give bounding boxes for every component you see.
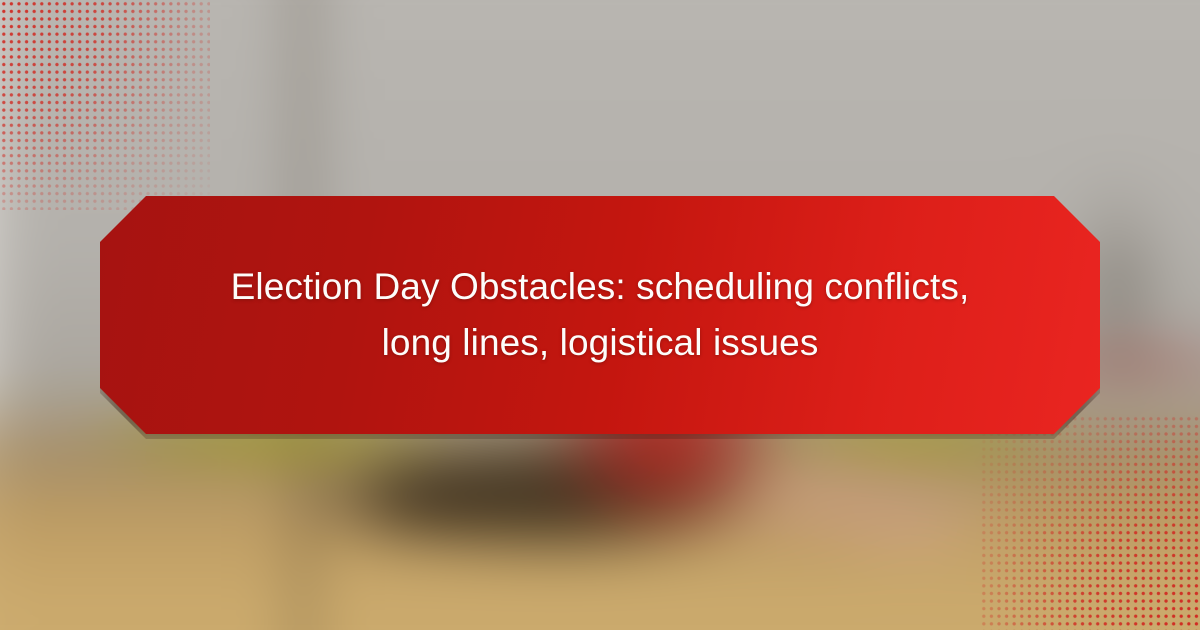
share-card: Election Day Obstacles: scheduling confl… [0,0,1200,630]
page-title: Election Day Obstacles: scheduling confl… [137,259,1063,371]
title-banner: Election Day Obstacles: scheduling confl… [100,196,1100,434]
